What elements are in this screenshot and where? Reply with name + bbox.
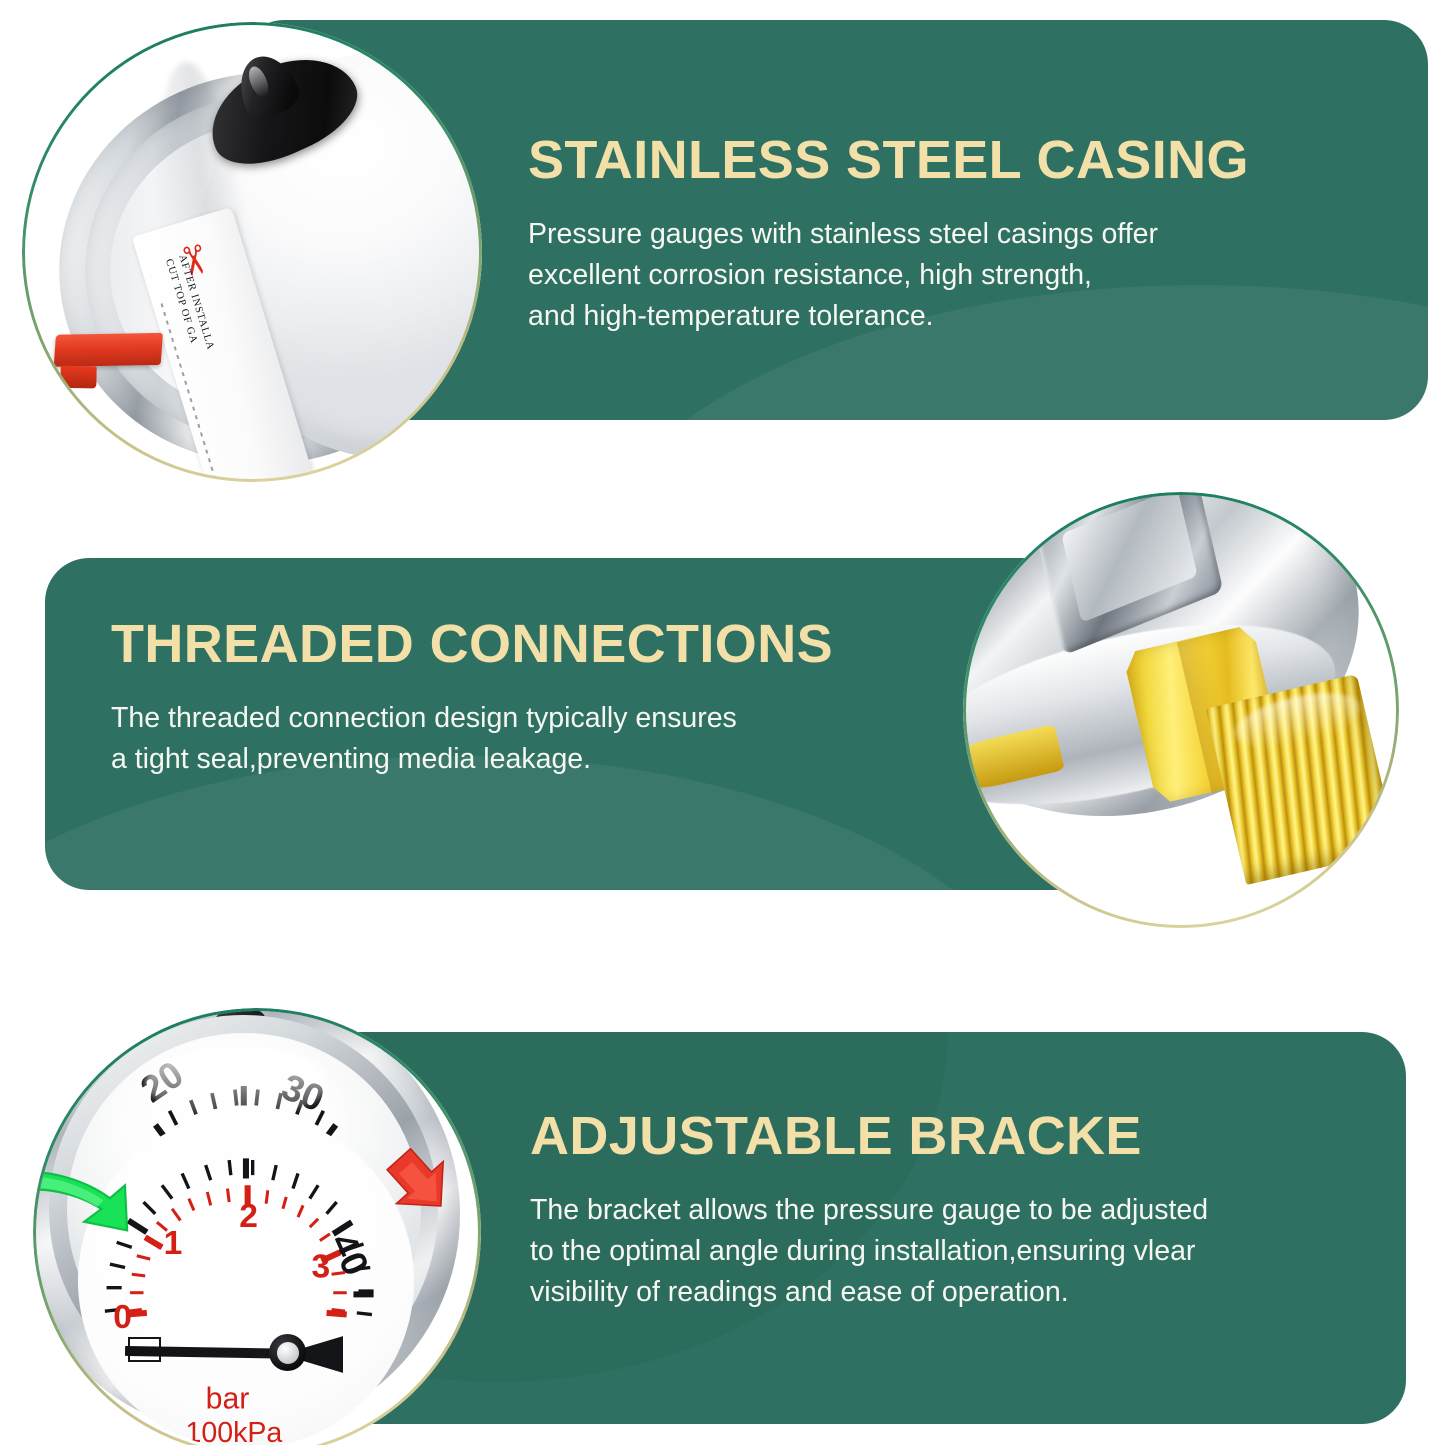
red-pull-tab-fold — [60, 366, 96, 389]
gauge-needle-hub-cap — [277, 1342, 299, 1364]
infographic-page: STAINLESS STEEL CASING Pressure gauges w… — [0, 0, 1445, 1445]
svg-text:3: 3 — [311, 1248, 330, 1285]
glass-reflection — [145, 1047, 329, 1118]
svg-text:1: 1 — [164, 1225, 183, 1262]
stainless-steel-casing-photo: ✂ AFTER INSTALLA CUT TOP OF GA — [22, 22, 482, 482]
red-pull-tab — [53, 333, 162, 367]
feature-body-stainless-steel-casing: Pressure gauges with stainless steel cas… — [528, 214, 1428, 337]
feature-title-stainless-steel-casing: STAINLESS STEEL CASING — [528, 132, 1428, 188]
dial-unit-bar: bar — [206, 1382, 250, 1415]
feature-body-line: to the optimal angle during installation… — [530, 1231, 1406, 1272]
feature-body-line: Pressure gauges with stainless steel cas… — [528, 214, 1428, 255]
feature-title-adjustable-bracke: ADJUSTABLE BRACKE — [530, 1108, 1406, 1164]
threaded-connection-photo — [963, 492, 1399, 928]
feature-body-line: and high-temperature tolerance. — [528, 296, 1428, 337]
feature-body-line: visibility of readings and ease of opera… — [530, 1272, 1406, 1313]
feature-body-line: The bracket allows the pressure gauge to… — [530, 1190, 1406, 1231]
green-setpoint-arrow-icon — [36, 1166, 138, 1241]
feature-body-adjustable-bracke: The bracket allows the pressure gauge to… — [530, 1190, 1406, 1313]
svg-text:2: 2 — [239, 1198, 258, 1235]
svg-text:0: 0 — [113, 1299, 132, 1336]
feature-body-line: excellent corrosion resistance, high str… — [528, 255, 1428, 296]
gauge-dial-face: 40 — [78, 1113, 414, 1445]
gauge-dial-photo: 20 30 — [33, 1008, 481, 1445]
red-setpoint-arrow-icon — [372, 1148, 469, 1219]
dial-unit-kpa: 100kPa — [185, 1417, 282, 1445]
gauge-scales: 40 — [78, 1113, 414, 1445]
